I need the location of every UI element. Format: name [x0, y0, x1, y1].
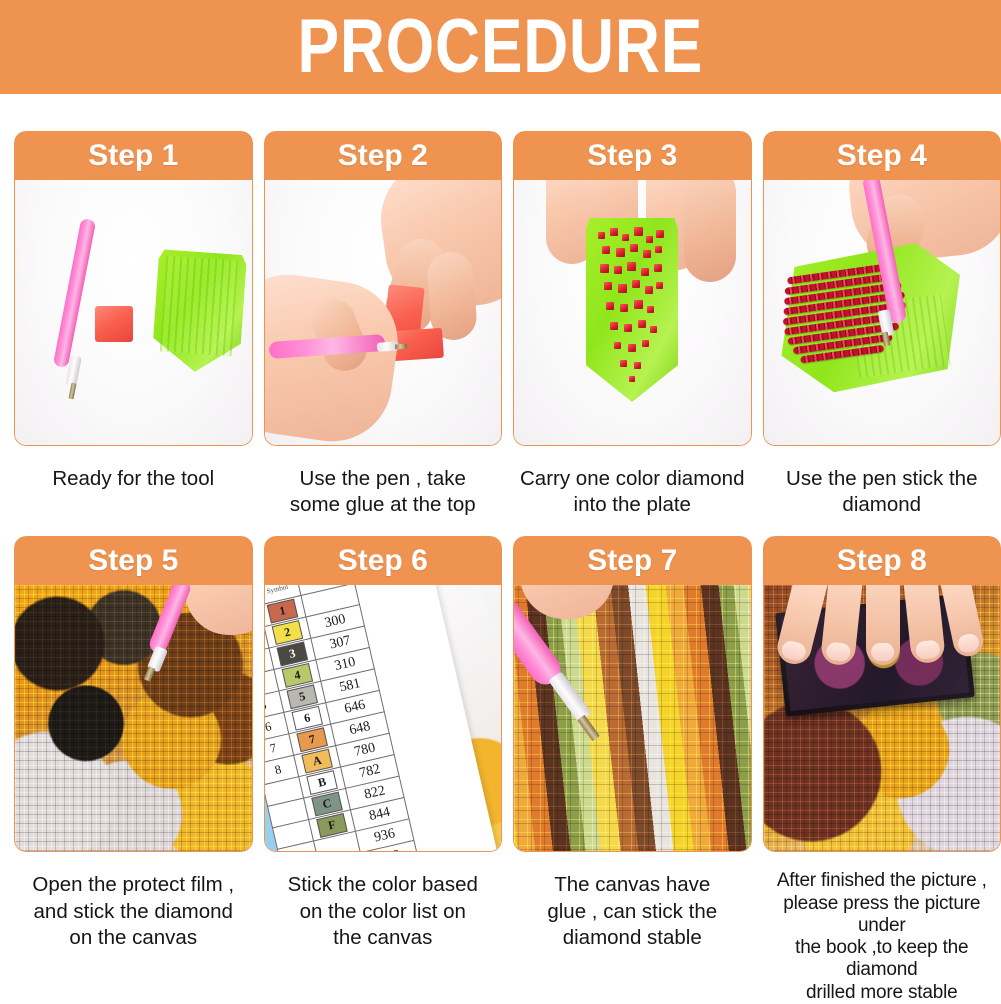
infographic-page: PROCEDURE Step 1 — [0, 0, 1001, 1001]
caption-line: Stick the color based — [268, 872, 499, 898]
finger-right-2-icon — [684, 180, 736, 282]
step-label-8: Step 8 — [837, 546, 927, 576]
step-card-3: Step 3 — [513, 131, 752, 518]
photo-step-8 — [764, 585, 1001, 851]
step-caption-4: Use the pen stick the diamond — [763, 466, 1001, 518]
step-label-7: Step 7 — [587, 546, 677, 576]
step-label-4: Step 4 — [837, 141, 927, 171]
card-photo-5 — [14, 585, 253, 852]
caption-line: on the canvas — [18, 925, 249, 951]
step-label-3: Step 3 — [587, 141, 677, 171]
finger-icon — [866, 585, 900, 665]
caption-line: Open the protect film , — [18, 872, 249, 898]
card-header-1: Step 1 — [14, 131, 253, 180]
card-6: Step 6 — [264, 536, 503, 852]
step-caption-1: Ready for the tool — [14, 466, 253, 492]
card-header-3: Step 3 — [513, 131, 752, 180]
glue-block-icon — [95, 306, 133, 342]
step-caption-8: After finished the picture , please pres… — [763, 870, 1001, 1003]
fingernail-icon — [914, 640, 940, 660]
caption-line: into the plate — [517, 492, 748, 518]
card-photo-7 — [513, 585, 752, 852]
card-5: Step 5 — [14, 536, 253, 852]
card-4: Step 4 — [763, 131, 1001, 446]
steps-row-bottom: Step 5 — [14, 536, 1001, 1003]
page-banner: PROCEDURE — [0, 0, 1001, 94]
caption-line: the book ,to keep the diamond — [763, 937, 1001, 981]
card-8: Step 8 — [763, 536, 1001, 852]
color-chart-body: 1 1 2 2 300 — [265, 585, 429, 851]
steps-row-top: Step 1 — [14, 131, 1001, 518]
step-label-6: Step 6 — [338, 546, 428, 576]
photo-step-6: Symbol DMC 1 1 — [265, 585, 502, 851]
step-card-5: Step 5 — [14, 536, 253, 1003]
card-photo-1 — [14, 180, 253, 446]
tray-grooves-icon — [160, 256, 239, 357]
bead-shine-overlay — [514, 585, 751, 851]
finger-icon — [900, 585, 946, 664]
steps-grid: Step 1 — [14, 131, 1001, 1004]
diamond-rows-group — [780, 251, 965, 393]
card-photo-2 — [264, 180, 503, 446]
photo-step-1 — [15, 180, 252, 445]
caption-line: the canvas — [268, 925, 499, 951]
fingernail-icon — [956, 633, 980, 655]
color-chart-photo: Symbol DMC 1 1 — [265, 585, 502, 851]
step-label-1: Step 1 — [88, 141, 178, 171]
caption-line: Ready for the tool — [18, 466, 249, 492]
caption-line: diamond — [767, 492, 998, 518]
card-header-5: Step 5 — [14, 536, 253, 585]
card-photo-3 — [513, 180, 752, 446]
step-label-5: Step 5 — [88, 546, 178, 576]
caption-line: diamond stable — [517, 925, 748, 951]
photo-step-7 — [514, 585, 751, 851]
card-photo-8 — [763, 585, 1001, 852]
photo-step-2 — [265, 180, 502, 445]
card-photo-4 — [763, 180, 1001, 446]
caption-line: and stick the diamond — [18, 899, 249, 925]
hand-press-group — [780, 585, 980, 693]
step-card-6: Step 6 — [264, 536, 503, 1003]
caption-line: drilled more stable — [763, 982, 1001, 1004]
step-caption-6: Stick the color based on the color list … — [264, 872, 503, 951]
fingernail-icon — [871, 643, 895, 661]
fingernail-icon — [779, 640, 806, 663]
caption-line: Use the pen stick the — [767, 466, 998, 492]
caption-line: After finished the picture , — [763, 870, 1001, 892]
caption-line: some glue at the top — [268, 492, 499, 518]
card-photo-6: Symbol DMC 1 1 — [264, 585, 503, 852]
caption-line: on the color list on — [268, 899, 499, 925]
red-diamonds-group — [586, 218, 678, 402]
step-card-7: Step 7 — [513, 536, 752, 1003]
caption-line: please press the picture under — [763, 893, 1001, 937]
step-caption-3: Carry one color diamond into the plate — [513, 466, 752, 518]
card-header-7: Step 7 — [513, 536, 752, 585]
step-card-4: Step 4 — [763, 131, 1001, 518]
step-caption-2: Use the pen , take some glue at the top — [264, 466, 503, 518]
caption-line: glue , can stick the — [517, 899, 748, 925]
caption-line: Carry one color diamond — [517, 466, 748, 492]
card-2: Step 2 — [264, 131, 503, 446]
card-3: Step 3 — [513, 131, 752, 446]
card-header-6: Step 6 — [264, 536, 503, 585]
card-header-8: Step 8 — [763, 536, 1001, 585]
step-label-2: Step 2 — [338, 141, 428, 171]
caption-line: Use the pen , take — [268, 466, 499, 492]
fingernail-icon — [825, 642, 851, 662]
card-1: Step 1 — [14, 131, 253, 446]
step-card-1: Step 1 — [14, 131, 253, 518]
card-7: Step 7 — [513, 536, 752, 852]
finger-icon — [819, 585, 865, 666]
photo-step-3 — [514, 180, 751, 445]
step-caption-5: Open the protect film , and stick the di… — [14, 872, 253, 951]
color-chart-table: Symbol DMC 1 1 — [265, 585, 429, 851]
step-caption-7: The canvas have glue , can stick the dia… — [513, 872, 752, 951]
photo-step-4 — [764, 180, 1001, 445]
step-card-8: Step 8 — [763, 536, 1001, 1003]
card-header-4: Step 4 — [763, 131, 1001, 180]
pen-metal-tip-icon — [394, 344, 406, 350]
caption-line: The canvas have — [517, 872, 748, 898]
card-header-2: Step 2 — [264, 131, 503, 180]
photo-step-5 — [15, 585, 252, 851]
page-title: PROCEDURE — [298, 9, 704, 85]
step-card-2: Step 2 — [264, 131, 503, 518]
